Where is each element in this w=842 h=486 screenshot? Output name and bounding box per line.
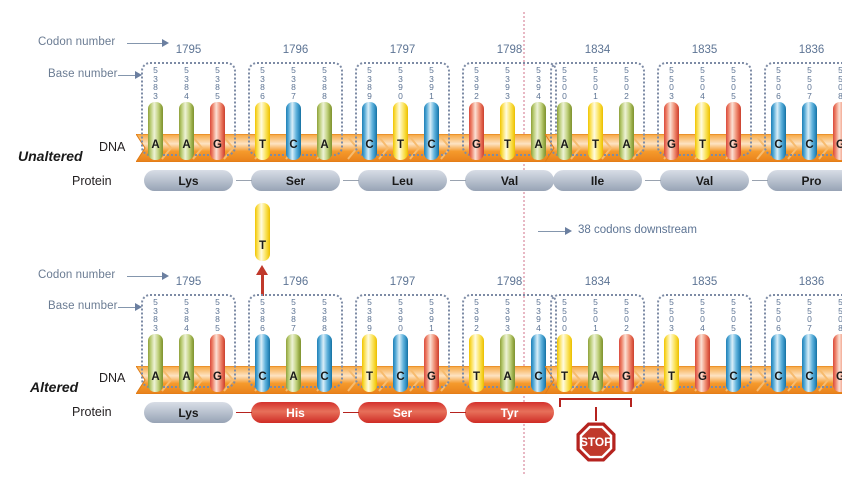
base-letter: A bbox=[148, 139, 163, 151]
stop-sign-icon: STOP bbox=[574, 420, 618, 464]
base-number: 5501 bbox=[588, 66, 603, 100]
base-number: 5387 bbox=[286, 298, 301, 332]
base-number: 5386 bbox=[255, 66, 270, 100]
protein-capsule: Lys bbox=[144, 402, 233, 423]
protein-capsule: Pro bbox=[767, 170, 842, 191]
base-number-leader bbox=[118, 75, 136, 76]
base-number: 5388 bbox=[317, 298, 332, 332]
base-letter: G bbox=[833, 371, 842, 383]
nucleotide-t bbox=[557, 334, 572, 392]
protein-link bbox=[450, 180, 466, 181]
nucleotide-c bbox=[802, 334, 817, 392]
protein-capsule: Val bbox=[660, 170, 749, 191]
base-letter: G bbox=[424, 371, 439, 383]
codon-number: 1836 bbox=[764, 276, 842, 288]
protein-link bbox=[236, 412, 252, 413]
base-number: 5393 bbox=[500, 66, 515, 100]
base-number: 5394 bbox=[531, 298, 546, 332]
base-number: 5504 bbox=[695, 298, 710, 332]
protein-link bbox=[645, 180, 661, 181]
base-number: 5392 bbox=[469, 66, 484, 100]
base-letter: C bbox=[424, 139, 439, 151]
nucleotide-a bbox=[179, 334, 194, 392]
base-number: 5502 bbox=[619, 298, 634, 332]
dna-label-altered: DNA bbox=[99, 371, 125, 385]
nucleotide-g bbox=[469, 102, 484, 160]
base-number-label-altered: Base number bbox=[48, 300, 118, 312]
codon-number: 1798 bbox=[462, 44, 557, 56]
nucleotide-g bbox=[833, 102, 842, 160]
base-number: 5391 bbox=[424, 298, 439, 332]
base-number: 5390 bbox=[393, 298, 408, 332]
codon-number: 1796 bbox=[248, 276, 343, 288]
protein-link bbox=[343, 412, 359, 413]
stop-codon-bracket bbox=[559, 398, 632, 407]
base-number: 5506 bbox=[771, 66, 786, 100]
base-number: 5391 bbox=[424, 66, 439, 100]
row-label-altered: Altered bbox=[30, 379, 78, 395]
nucleotide-a bbox=[179, 102, 194, 160]
base-number: 5508 bbox=[833, 298, 842, 332]
base-number: 5507 bbox=[802, 298, 817, 332]
nucleotide-c bbox=[362, 102, 377, 160]
dna-label-unaltered: DNA bbox=[99, 140, 125, 154]
nucleotide-g bbox=[695, 334, 710, 392]
codon-number: 1795 bbox=[141, 44, 236, 56]
base-letter: T bbox=[469, 371, 484, 383]
protein-link bbox=[236, 180, 252, 181]
base-number: 5389 bbox=[362, 298, 377, 332]
base-letter: G bbox=[833, 139, 842, 151]
protein-label-unaltered: Protein bbox=[72, 174, 112, 188]
nucleotide-t bbox=[362, 334, 377, 392]
base-letter: C bbox=[726, 371, 741, 383]
protein-capsule: His bbox=[251, 402, 340, 423]
codon-number: 1834 bbox=[550, 276, 645, 288]
base-letter: G bbox=[469, 139, 484, 151]
base-number: 5394 bbox=[531, 66, 546, 100]
base-letter: A bbox=[500, 371, 515, 383]
nucleotide-t bbox=[695, 102, 710, 160]
nucleotide-a bbox=[557, 102, 572, 160]
protein-capsule: Ile bbox=[553, 170, 642, 191]
nucleotide-c bbox=[393, 334, 408, 392]
codon-number: 1835 bbox=[657, 44, 752, 56]
nucleotide-c bbox=[802, 102, 817, 160]
nucleotide-g bbox=[619, 334, 634, 392]
nucleotide-g bbox=[210, 334, 225, 392]
base-number: 5505 bbox=[726, 66, 741, 100]
base-number: 5501 bbox=[588, 298, 603, 332]
base-letter: C bbox=[362, 139, 377, 151]
diagram-canvas: Codon number Base number Unaltered DNA P… bbox=[0, 0, 842, 486]
nucleotide-t bbox=[469, 334, 484, 392]
codon-number: 1835 bbox=[657, 276, 752, 288]
base-letter: T bbox=[500, 139, 515, 151]
base-letter: A bbox=[557, 139, 572, 151]
base-number: 5388 bbox=[317, 66, 332, 100]
base-letter: T bbox=[255, 139, 270, 151]
downstream-leader bbox=[538, 231, 566, 232]
base-letter: T bbox=[695, 139, 710, 151]
base-number: 5384 bbox=[179, 66, 194, 100]
protein-label-altered: Protein bbox=[72, 405, 112, 419]
inserted-nucleotide bbox=[255, 203, 270, 261]
base-number: 5384 bbox=[179, 298, 194, 332]
inserted-base-letter: T bbox=[255, 240, 270, 252]
nucleotide-t bbox=[255, 102, 270, 160]
base-number: 5383 bbox=[148, 298, 163, 332]
base-number: 5389 bbox=[362, 66, 377, 100]
codon-number: 1834 bbox=[550, 44, 645, 56]
codon-number: 1797 bbox=[355, 44, 450, 56]
base-number: 5508 bbox=[833, 66, 842, 100]
base-letter: C bbox=[393, 371, 408, 383]
nucleotide-t bbox=[393, 102, 408, 160]
nucleotide-g bbox=[726, 102, 741, 160]
protein-capsule: Tyr bbox=[465, 402, 554, 423]
nucleotide-a bbox=[500, 334, 515, 392]
base-letter: T bbox=[557, 371, 572, 383]
base-letter: G bbox=[726, 139, 741, 151]
base-number: 5390 bbox=[393, 66, 408, 100]
base-number: 5500 bbox=[557, 66, 572, 100]
base-letter: C bbox=[802, 139, 817, 151]
nucleotide-c bbox=[771, 334, 786, 392]
row-label-unaltered: Unaltered bbox=[18, 148, 83, 164]
base-number-label: Base number bbox=[48, 68, 118, 80]
base-number: 5503 bbox=[664, 66, 679, 100]
nucleotide-a bbox=[588, 334, 603, 392]
protein-capsule: Val bbox=[465, 170, 554, 191]
base-letter: G bbox=[619, 371, 634, 383]
base-letter: T bbox=[393, 139, 408, 151]
base-letter: A bbox=[531, 139, 546, 151]
nucleotide-c bbox=[255, 334, 270, 392]
base-letter: G bbox=[210, 139, 225, 151]
nucleotide-a bbox=[286, 334, 301, 392]
nucleotide-t bbox=[500, 102, 515, 160]
base-letter: G bbox=[695, 371, 710, 383]
base-letter: A bbox=[179, 139, 194, 151]
base-number: 5500 bbox=[557, 298, 572, 332]
nucleotide-g bbox=[424, 334, 439, 392]
codon-number: 1796 bbox=[248, 44, 343, 56]
nucleotide-c bbox=[317, 334, 332, 392]
base-number: 5503 bbox=[664, 298, 679, 332]
base-number: 5506 bbox=[771, 298, 786, 332]
base-number: 5502 bbox=[619, 66, 634, 100]
nucleotide-g bbox=[210, 102, 225, 160]
base-number: 5392 bbox=[469, 298, 484, 332]
nucleotide-a bbox=[317, 102, 332, 160]
codon-number: 1797 bbox=[355, 276, 450, 288]
codon-number-label: Codon number bbox=[38, 36, 115, 48]
base-letter: A bbox=[619, 139, 634, 151]
nucleotide-c bbox=[424, 102, 439, 160]
codon-number: 1798 bbox=[462, 276, 557, 288]
nucleotide-a bbox=[531, 102, 546, 160]
base-letter: G bbox=[210, 371, 225, 383]
base-number: 5504 bbox=[695, 66, 710, 100]
nucleotide-g bbox=[833, 334, 842, 392]
base-letter: G bbox=[664, 139, 679, 151]
base-number: 5383 bbox=[148, 66, 163, 100]
base-number: 5385 bbox=[210, 298, 225, 332]
nucleotide-g bbox=[664, 102, 679, 160]
nucleotide-a bbox=[619, 102, 634, 160]
nucleotide-c bbox=[531, 334, 546, 392]
codon-number-label-altered: Codon number bbox=[38, 269, 115, 281]
base-letter: C bbox=[531, 371, 546, 383]
nucleotide-t bbox=[664, 334, 679, 392]
nucleotide-c bbox=[771, 102, 786, 160]
protein-link bbox=[343, 180, 359, 181]
base-letter: A bbox=[148, 371, 163, 383]
base-letter: T bbox=[664, 371, 679, 383]
base-letter: C bbox=[317, 371, 332, 383]
base-letter: C bbox=[255, 371, 270, 383]
base-number: 5393 bbox=[500, 298, 515, 332]
base-number-leader-altered bbox=[118, 307, 136, 308]
base-letter: A bbox=[588, 371, 603, 383]
base-number: 5507 bbox=[802, 66, 817, 100]
protein-capsule: Ser bbox=[251, 170, 340, 191]
protein-capsule: Leu bbox=[358, 170, 447, 191]
downstream-arrowhead bbox=[565, 227, 572, 235]
protein-capsule: Ser bbox=[358, 402, 447, 423]
protein-link bbox=[450, 412, 466, 413]
base-letter: C bbox=[771, 371, 786, 383]
protein-link bbox=[752, 180, 768, 181]
base-letter: C bbox=[286, 139, 301, 151]
nucleotide-a bbox=[148, 334, 163, 392]
base-number: 5385 bbox=[210, 66, 225, 100]
codon-number: 1836 bbox=[764, 44, 842, 56]
protein-capsule: Lys bbox=[144, 170, 233, 191]
stop-sign-stem bbox=[595, 407, 597, 421]
base-number: 5387 bbox=[286, 66, 301, 100]
base-number: 5386 bbox=[255, 298, 270, 332]
base-letter: A bbox=[317, 139, 332, 151]
svg-text:STOP: STOP bbox=[579, 435, 611, 449]
base-letter: T bbox=[588, 139, 603, 151]
downstream-note: 38 codons downstream bbox=[578, 224, 697, 236]
base-letter: C bbox=[802, 371, 817, 383]
base-number: 5505 bbox=[726, 298, 741, 332]
base-letter: C bbox=[771, 139, 786, 151]
codon-number: 1795 bbox=[141, 276, 236, 288]
nucleotide-a bbox=[148, 102, 163, 160]
base-letter: A bbox=[286, 371, 301, 383]
nucleotide-t bbox=[588, 102, 603, 160]
nucleotide-c bbox=[726, 334, 741, 392]
nucleotide-c bbox=[286, 102, 301, 160]
base-letter: A bbox=[179, 371, 194, 383]
base-letter: T bbox=[362, 371, 377, 383]
